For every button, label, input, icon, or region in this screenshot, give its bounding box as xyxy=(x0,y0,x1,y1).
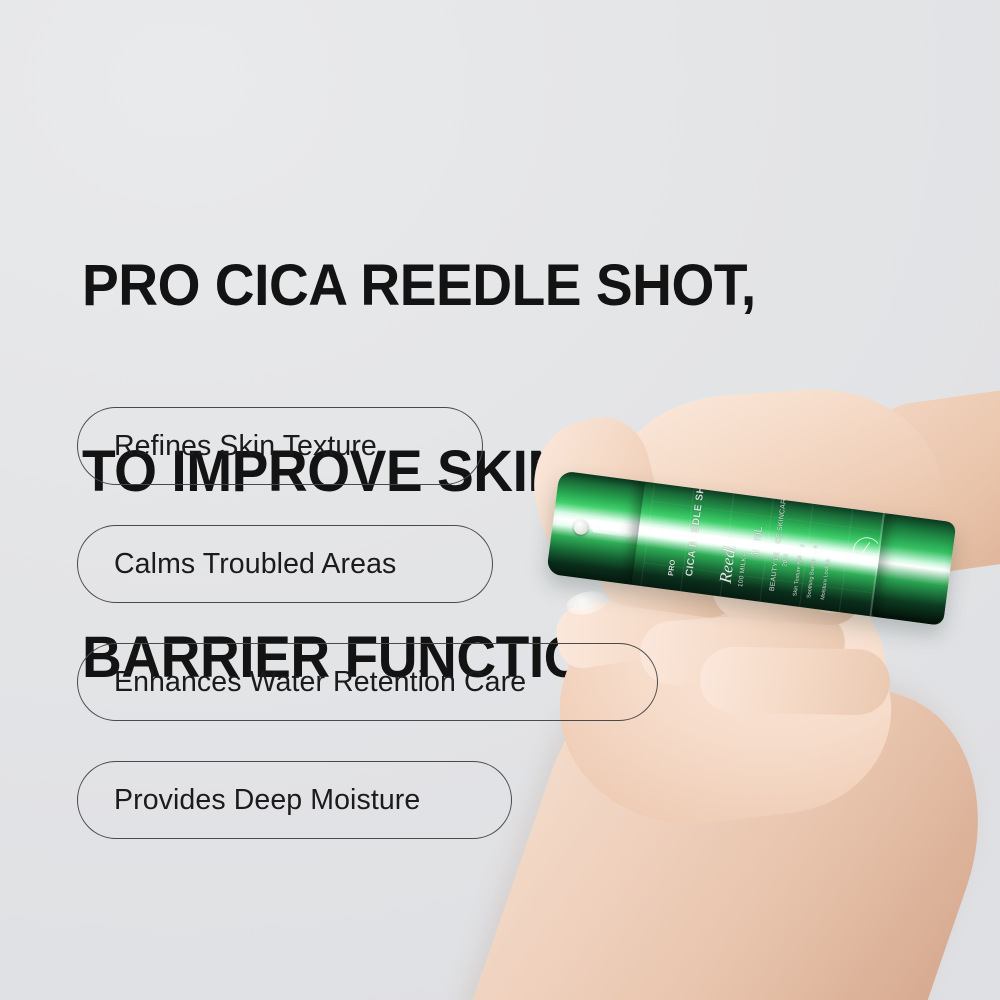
product-promo-image: PRO CICA REEDLE SHOT Reedle 100 MILK+ 10… xyxy=(0,0,1000,1000)
tube-end-ring xyxy=(869,513,885,616)
benefit-pill-enhances-water-retention-care[interactable]: Enhances Water Retention Care xyxy=(77,643,658,721)
benefit-label: Calms Troubled Areas xyxy=(78,548,396,581)
benefit-pill-provides-deep-moisture[interactable]: Provides Deep Moisture xyxy=(77,761,512,839)
headline-line-1: PRO CICA REEDLE SHOT, xyxy=(82,255,842,317)
tube-base-end xyxy=(871,513,956,626)
upper-wrist xyxy=(851,386,1000,581)
certification-seal-icon xyxy=(851,536,882,567)
benefit-pill-refines-skin-texture[interactable]: Refines Skin Texture xyxy=(77,407,483,485)
benefit-label: Enhances Water Retention Care xyxy=(78,666,526,699)
benefit-label: Refines Skin Texture xyxy=(78,430,377,463)
benefit-label: Provides Deep Moisture xyxy=(78,784,420,817)
benefit-pill-calms-troubled-areas[interactable]: Calms Troubled Areas xyxy=(77,525,493,603)
